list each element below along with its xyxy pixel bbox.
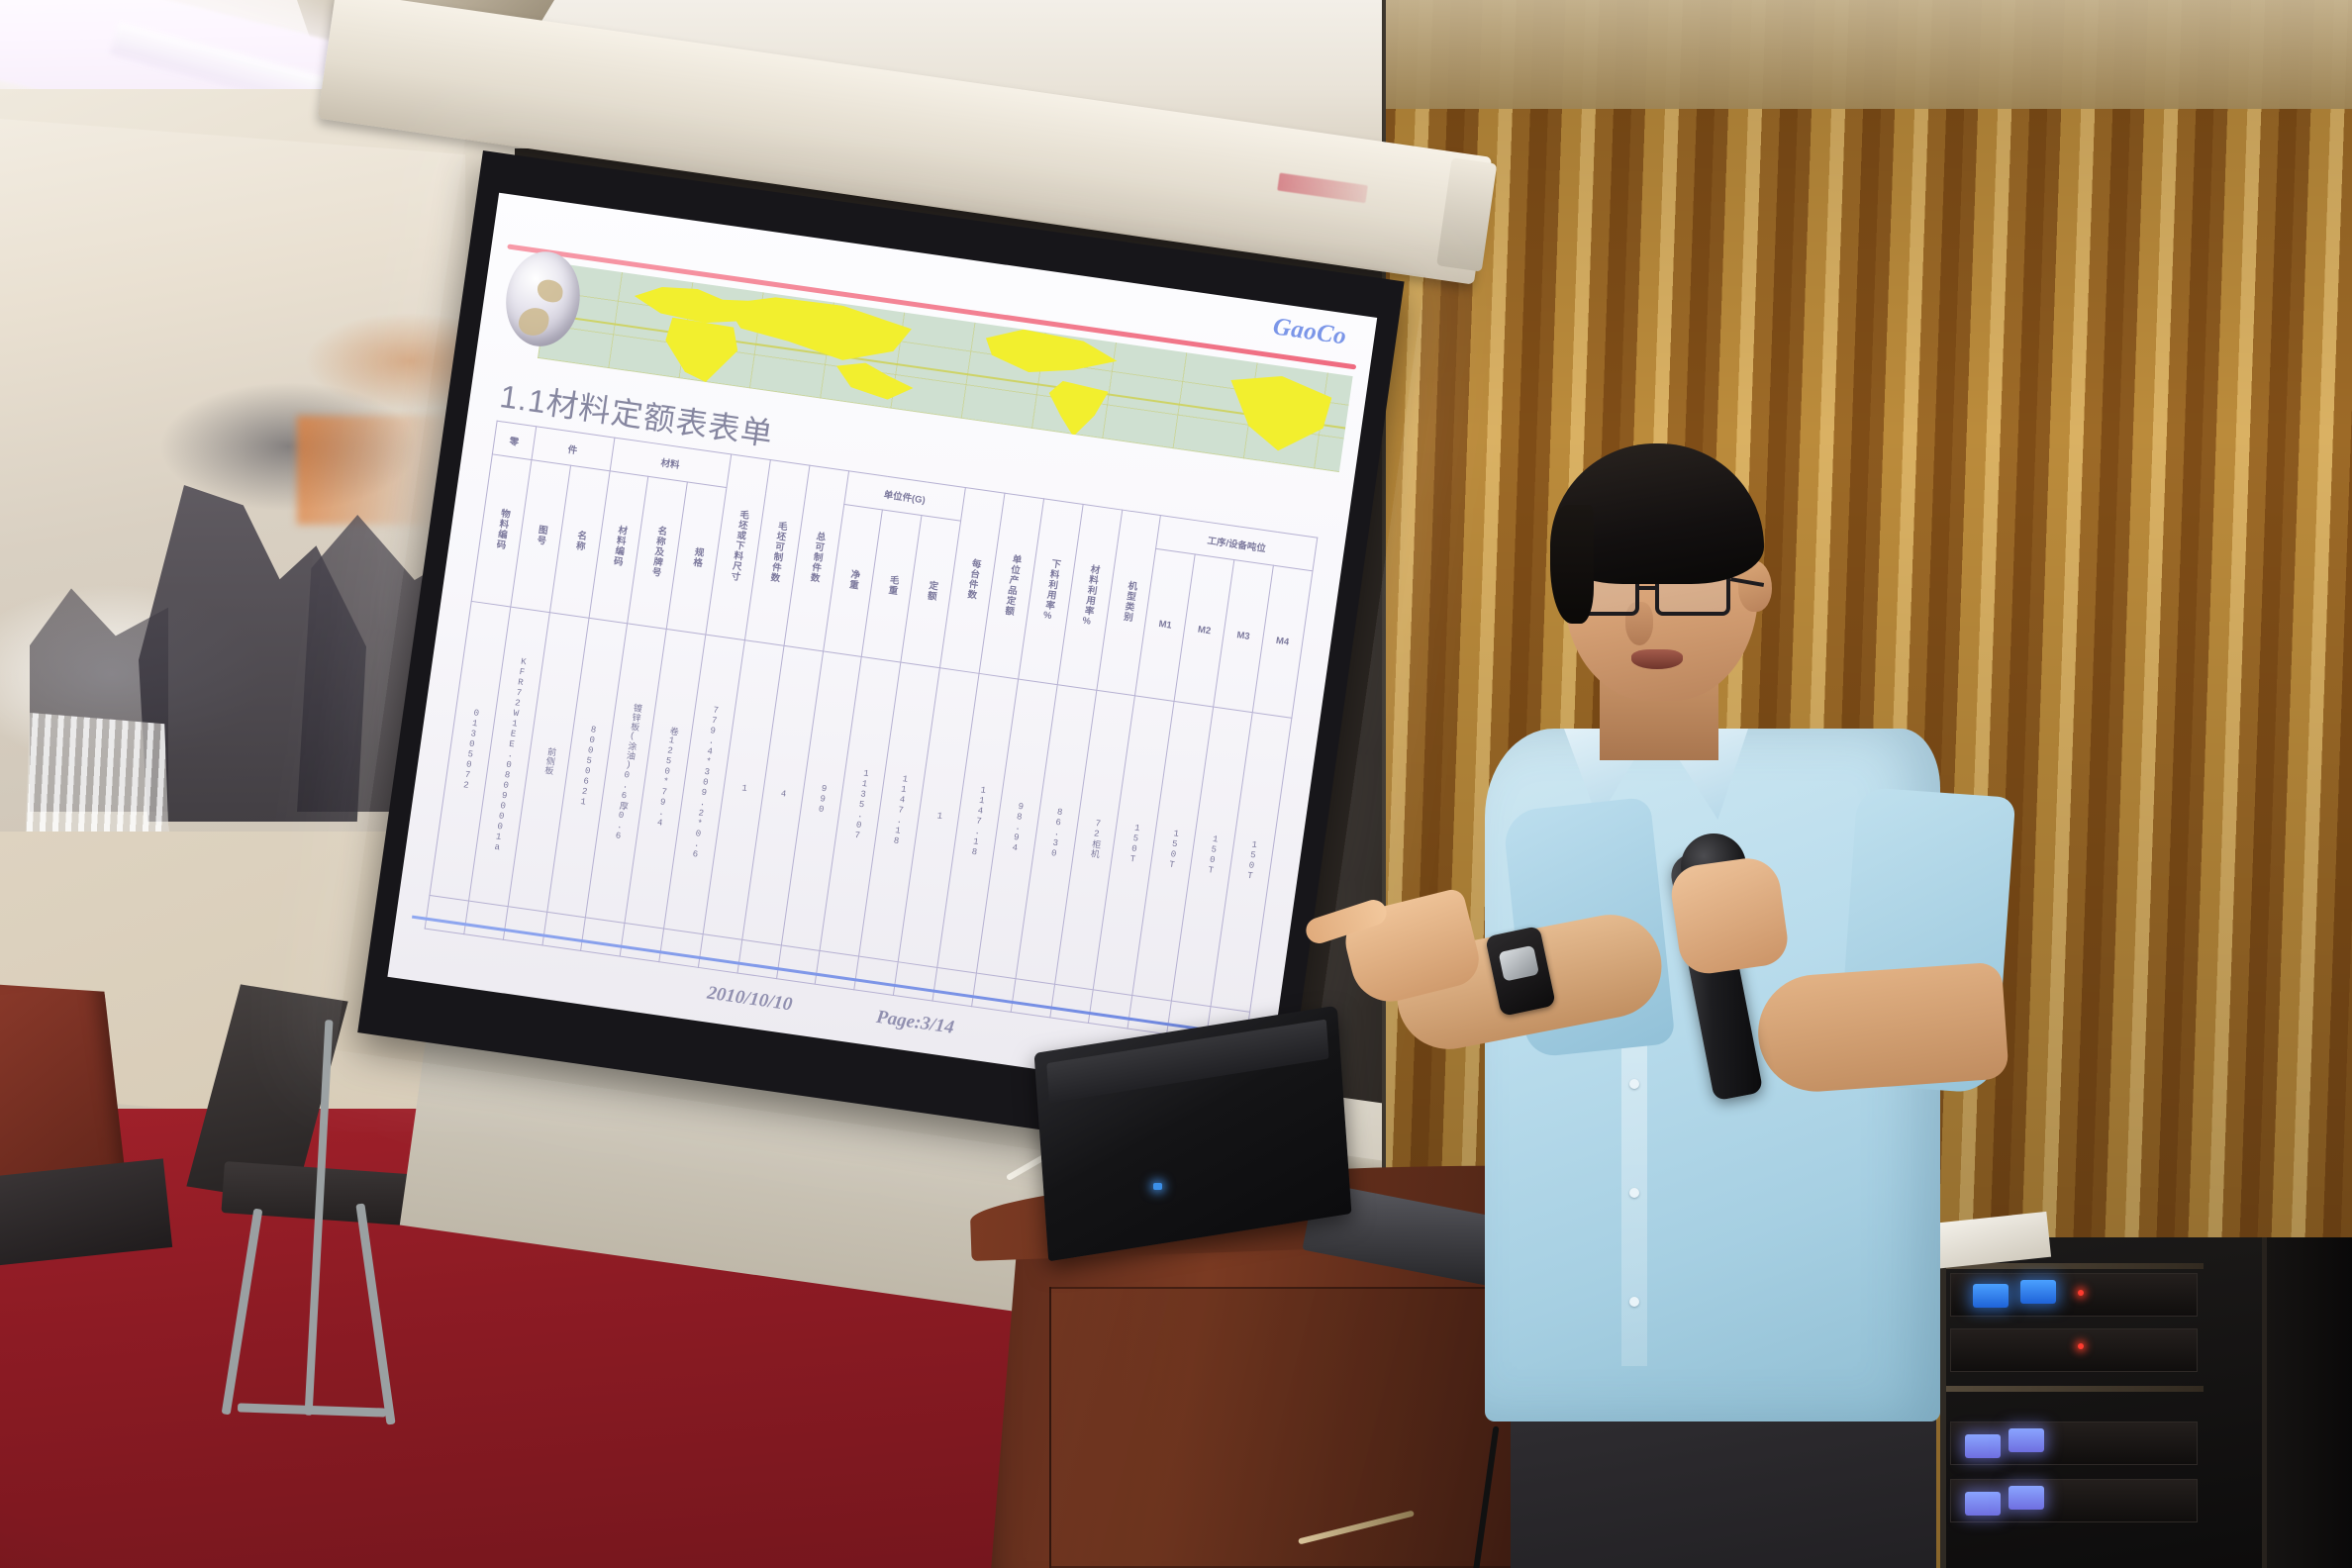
cell-empty [737, 939, 781, 978]
cell-empty [425, 895, 468, 933]
cell-empty [503, 907, 546, 945]
cell-empty [854, 956, 898, 995]
microphone-cable [1469, 1425, 1500, 1568]
cell-empty [464, 901, 508, 939]
chinese-landscape-mural [0, 119, 465, 832]
projection-screen-surface: GaoCo 1.1材料定额表表单 [387, 193, 1377, 1102]
presenter-hair-sideburn [1550, 505, 1594, 624]
material-quota-table-wrapper: 零 件 材料 毛坯或下料尺寸 毛坯可制件数 总可制件数 单位件(G) 每台件数 … [425, 421, 1319, 1045]
projection-screen-frame: GaoCo 1.1材料定额表表单 [357, 150, 1404, 1163]
cell-empty [1127, 995, 1171, 1033]
cell-empty [1011, 979, 1054, 1018]
cell-empty [698, 934, 741, 973]
curtain-valance [1386, 0, 2352, 109]
cell-empty [1049, 984, 1093, 1023]
shirt-button [1629, 1079, 1639, 1089]
laptop-power-led-icon [1153, 1183, 1162, 1190]
material-quota-table: 零 件 材料 毛坯或下料尺寸 毛坯可制件数 总可制件数 单位件(G) 每台件数 … [425, 421, 1319, 1046]
presenter-trousers [1511, 1406, 1936, 1568]
presenter [1366, 436, 2079, 1568]
wristwatch-face-icon [1499, 945, 1539, 982]
presentation-slide: GaoCo 1.1材料定额表表单 [387, 193, 1377, 1102]
cell-empty [932, 967, 976, 1006]
slide-footer-page: Page:3/14 [875, 1007, 955, 1039]
shirt-button [1629, 1297, 1639, 1307]
gaoco-logo: GaoCo [1271, 313, 1348, 350]
world-map-banner [538, 262, 1353, 472]
cell-empty [620, 923, 663, 961]
presenter-hand-holding-mic [1668, 854, 1791, 977]
group-header-part-code: 零 [492, 421, 536, 459]
conference-room-scene: GaoCo 1.1材料定额表表单 [0, 0, 2352, 1568]
cell-empty [776, 945, 820, 984]
shirt-button [1629, 1188, 1639, 1198]
eyeglasses-bridge-icon [1639, 586, 1657, 590]
cell-empty [1089, 990, 1132, 1029]
cell-empty [894, 962, 937, 1001]
presenter-right-forearm [1754, 961, 2009, 1095]
slide-footer-date: 2010/10/10 [706, 983, 794, 1017]
globe-land-mass [536, 278, 564, 303]
cell-empty [541, 912, 585, 950]
rack-side-panel [2265, 1237, 2352, 1568]
cell-empty [816, 951, 859, 990]
cell-empty [659, 929, 703, 967]
cell-empty [581, 918, 625, 956]
cell-empty [971, 973, 1015, 1012]
presenter-mouth [1631, 649, 1683, 669]
globe-land-mass [517, 306, 550, 338]
roller-brand-label [1277, 173, 1368, 204]
